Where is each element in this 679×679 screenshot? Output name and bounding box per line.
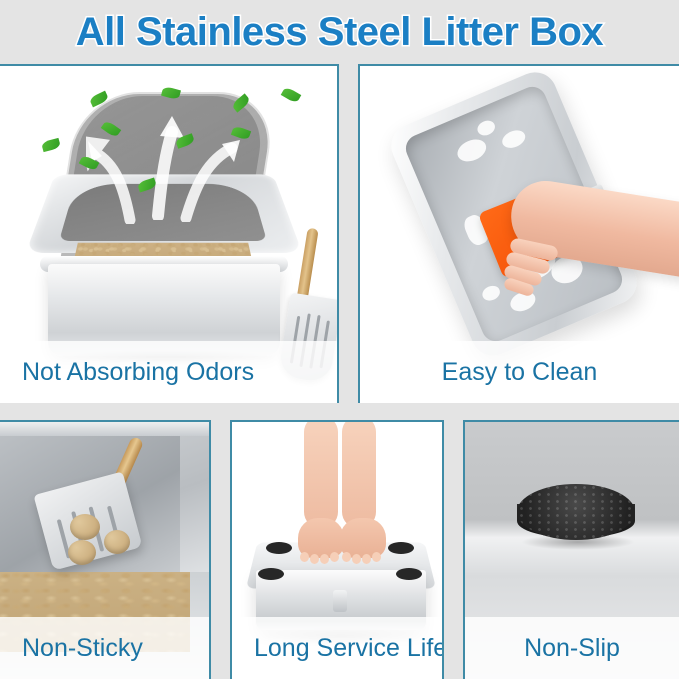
panel-2-illustration: Easy to Clean	[360, 66, 679, 403]
leaf-icon	[41, 138, 61, 152]
panel-caption: Not Absorbing Odors	[0, 358, 337, 403]
litter-clump	[68, 540, 96, 565]
litter-box-illustration	[34, 88, 304, 358]
leg	[342, 422, 376, 528]
soap-suds	[500, 127, 528, 151]
soap-suds	[454, 135, 489, 165]
panel-caption: Non-Slip	[465, 634, 679, 679]
toe	[330, 552, 339, 562]
panel-caption: Easy to Clean	[360, 358, 679, 403]
feature-panel-easy-to-clean[interactable]: Easy to Clean	[358, 64, 679, 403]
panel-1-illustration: Not Absorbing Odors	[0, 66, 337, 403]
feature-panel-non-slip[interactable]: Non-Slip	[463, 420, 679, 679]
feature-row-top: Not Absorbing Odors	[0, 64, 679, 403]
feature-panel-not-absorbing-odors[interactable]: Not Absorbing Odors	[0, 64, 339, 403]
column-gap	[444, 420, 463, 679]
rubber-foot-pad	[396, 568, 422, 580]
pad-texture	[517, 484, 635, 540]
toe	[352, 554, 361, 564]
feature-panel-non-sticky[interactable]: Non-Sticky	[0, 420, 211, 679]
litter-clump	[104, 530, 130, 554]
feature-row-bottom: Non-Sticky	[0, 420, 679, 679]
panel-5-illustration: Non-Slip	[465, 422, 679, 679]
box-rim	[0, 422, 209, 436]
soap-suds	[475, 118, 497, 138]
non-slip-pad	[517, 484, 635, 540]
toe	[310, 554, 319, 564]
rubber-foot-pad	[266, 542, 292, 554]
rubber-foot-pad	[258, 568, 284, 580]
panel-caption: Non-Sticky	[0, 634, 209, 679]
rubber-foot-pad	[388, 542, 414, 554]
feature-panel-long-service-life[interactable]: Long Service Life	[230, 420, 444, 679]
soap-suds	[480, 283, 502, 303]
scoop-handle	[296, 228, 318, 303]
column-gap	[339, 64, 358, 403]
toe	[372, 552, 381, 562]
column-gap	[211, 420, 230, 679]
box-latch	[333, 590, 347, 612]
toe	[362, 554, 371, 564]
litter-clump	[70, 514, 100, 540]
page-title: All Stainless Steel Litter Box	[76, 10, 603, 55]
panel-3-illustration: Non-Sticky	[0, 422, 209, 679]
leg	[304, 422, 338, 528]
panel-caption: Long Service Life	[232, 634, 442, 679]
airflow-arrow-icon	[86, 128, 148, 224]
page-title-bar: All Stainless Steel Litter Box	[0, 0, 679, 64]
toe	[342, 552, 351, 562]
infographic-page: All Stainless Steel Litter Box	[0, 0, 679, 679]
panel-4-illustration: Long Service Life	[232, 422, 442, 679]
toe	[320, 554, 329, 564]
toe	[300, 552, 309, 562]
leaf-icon	[281, 86, 302, 104]
